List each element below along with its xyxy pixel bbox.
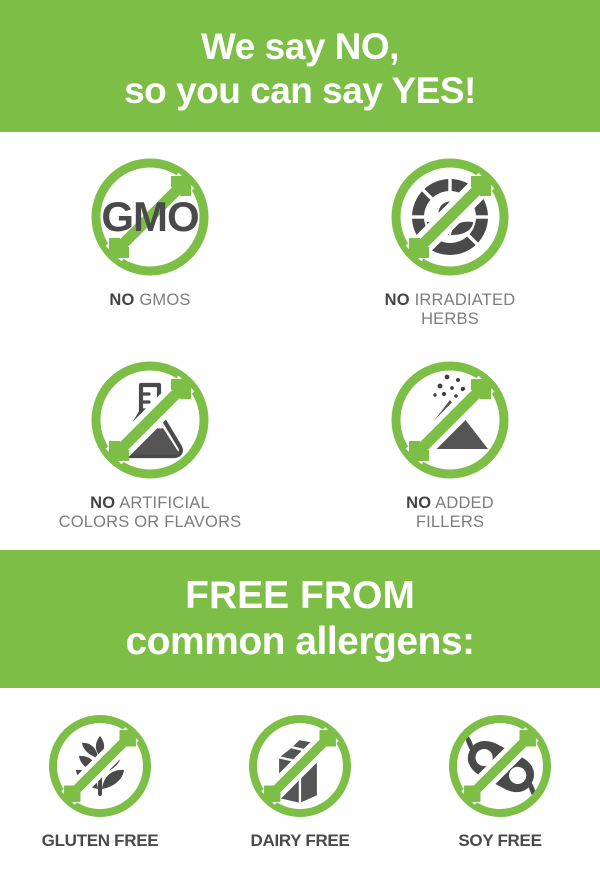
allergen-banner: FREE FROM common allergens: (0, 550, 600, 688)
allergen-free-row: GLUTEN FREE (0, 688, 600, 882)
allergen-banner-line-1: FREE FROM (185, 573, 415, 619)
claim-label-line-1: GMOS (139, 291, 190, 309)
top-banner-line-2: so you can say YES! (124, 69, 476, 113)
claim-keyword: NO (385, 291, 410, 309)
svg-text:GMO: GMO (101, 193, 198, 240)
no-irradiated-herbs-icon (385, 152, 515, 282)
allergen-item-gluten-free: GLUTEN FREE (0, 710, 200, 882)
allergen-label-gluten-free: GLUTEN FREE (42, 831, 159, 851)
claim-item-no-artificial-colors: NO ARTIFICIAL COLORS OR FLAVORS (0, 347, 300, 550)
claim-keyword: NO (90, 494, 115, 512)
allergen-item-soy-free: SOY FREE (400, 710, 600, 882)
product-claims-infographic: We say NO, so you can say YES! GMO (0, 0, 600, 882)
claim-label-no-added-fillers: NO ADDED FILLERS (406, 494, 494, 533)
claim-keyword: NO (109, 291, 134, 309)
no-artificial-colors-flask-icon (85, 355, 215, 485)
dairy-free-milk-carton-icon (244, 710, 356, 822)
claim-label-no-artificial-colors: NO ARTIFICIAL COLORS OR FLAVORS (59, 494, 242, 533)
claim-label-no-gmos: NO GMOS (109, 291, 190, 310)
no-gmo-icon: GMO (85, 152, 215, 282)
top-banner: We say NO, so you can say YES! (0, 0, 600, 132)
allergen-item-dairy-free: DAIRY FREE (200, 710, 400, 882)
gluten-free-wheat-icon (44, 710, 156, 822)
claim-label-line-1: IRRADIATED (415, 291, 516, 309)
claim-item-no-gmos: GMO NO GMOS (0, 144, 300, 347)
claim-label-line-2: HERBS (421, 310, 479, 328)
soy-free-soybean-icon (444, 710, 556, 822)
top-banner-line-1: We say NO, (201, 25, 399, 69)
allergen-label-dairy-free: DAIRY FREE (250, 831, 349, 851)
claim-label-line-2: FILLERS (416, 513, 484, 531)
claim-keyword: NO (406, 494, 431, 512)
no-claims-grid: GMO NO GMOS (0, 132, 600, 550)
claim-label-line-1: ARTIFICIAL (119, 494, 210, 512)
claim-item-no-added-fillers: NO ADDED FILLERS (300, 347, 600, 550)
claim-item-no-irradiated-herbs: NO IRRADIATED HERBS (300, 144, 600, 347)
allergen-banner-line-2: common allergens: (125, 619, 474, 665)
claim-label-no-irradiated-herbs: NO IRRADIATED HERBS (385, 291, 516, 330)
no-added-fillers-icon (385, 355, 515, 485)
claim-label-line-2: COLORS OR FLAVORS (59, 513, 242, 531)
claim-label-line-1: ADDED (435, 494, 494, 512)
allergen-label-soy-free: SOY FREE (458, 831, 541, 851)
